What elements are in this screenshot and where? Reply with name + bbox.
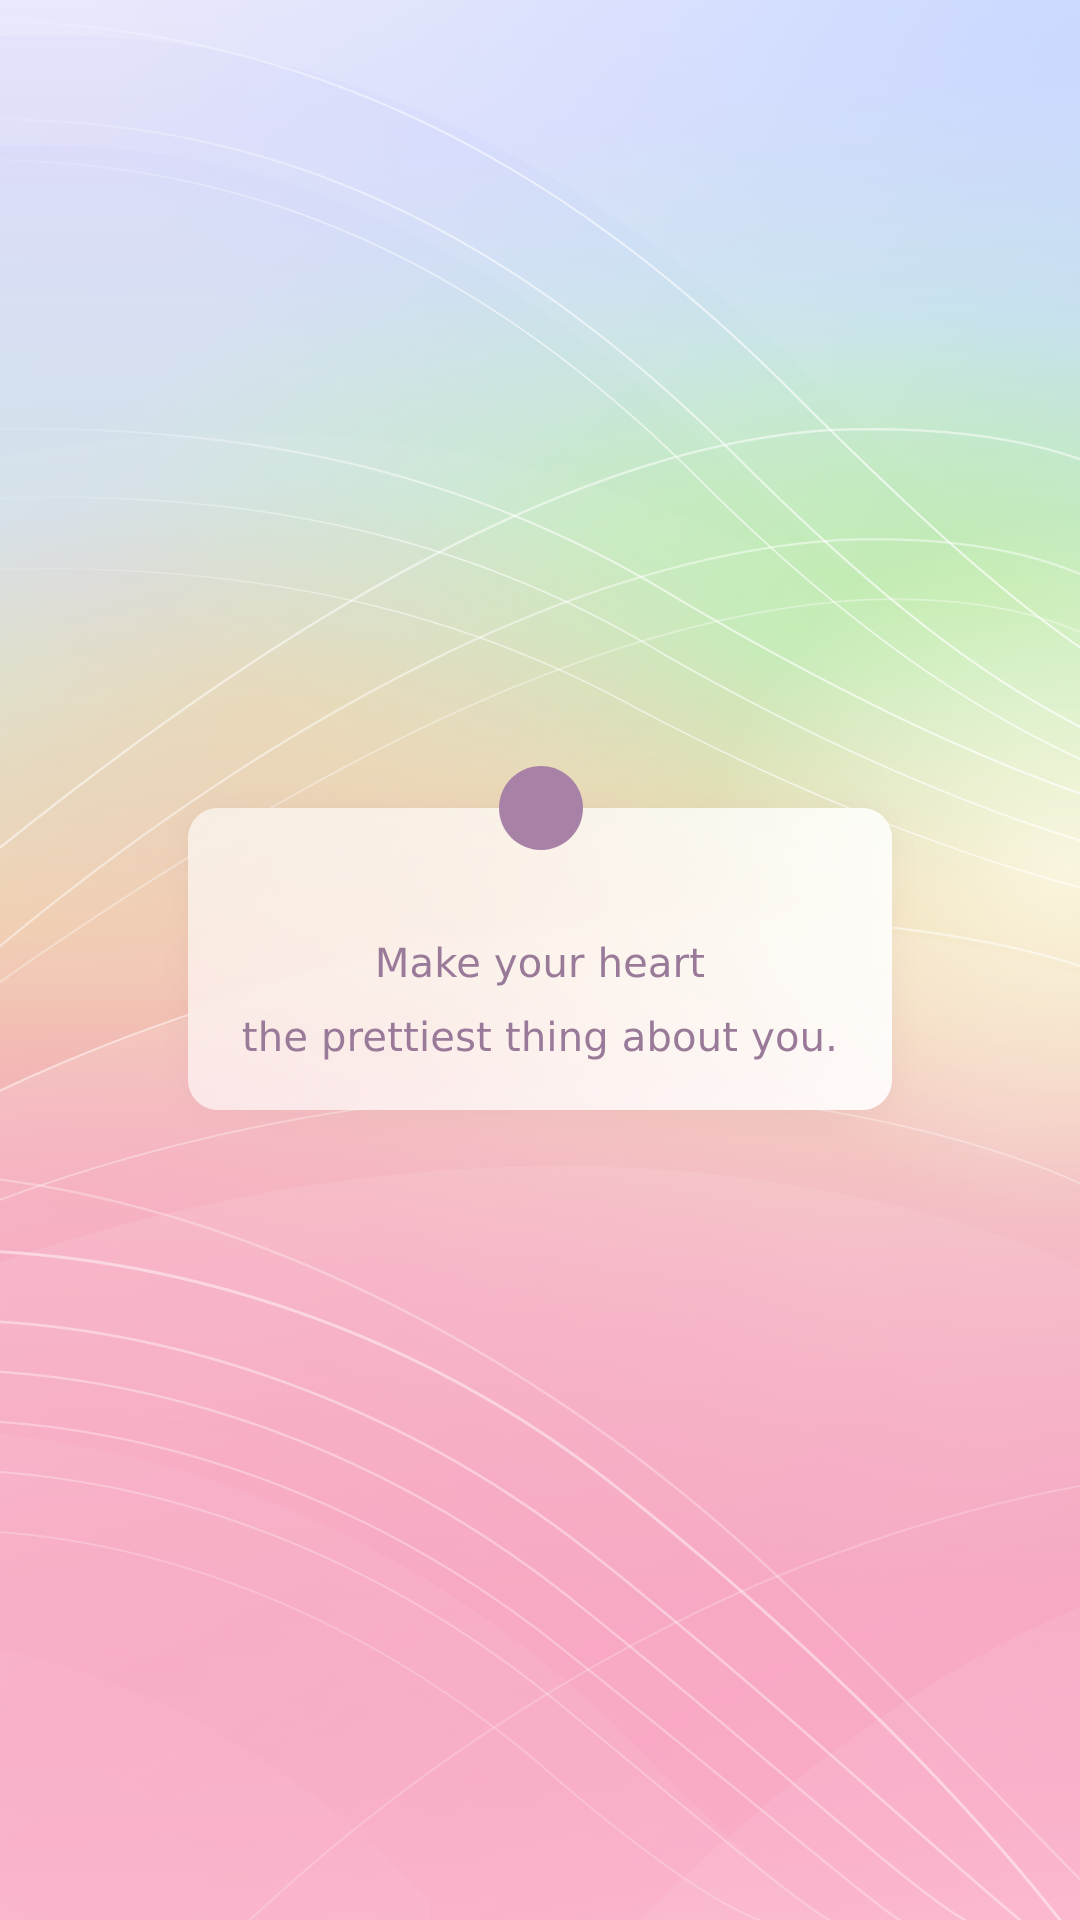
quote-line-1: Make your heart [375, 944, 705, 984]
quote-line-2: the prettiest thing about you. [242, 1018, 838, 1058]
curve-group-ribbon-fan [0, 1175, 1080, 1920]
wallpaper-canvas: Make your heart the prettiest thing abou… [0, 0, 1080, 1920]
curve-group-pink-wedges [0, 1430, 1080, 1920]
quote-card: Make your heart the prettiest thing abou… [188, 808, 892, 1110]
circle-accent-icon [499, 766, 583, 850]
